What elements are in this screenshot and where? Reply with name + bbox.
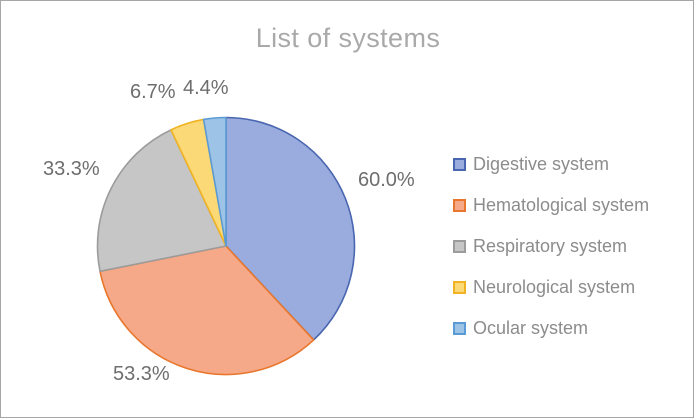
chart-container: List of systems 60.0%53.3%33.3%6.7%4.4% …	[0, 0, 694, 418]
legend-item-label: Respiratory system	[473, 236, 627, 257]
legend-color-swatch-icon	[453, 322, 466, 335]
legend-item-label: Hematological system	[473, 195, 649, 216]
legend-color-swatch-icon	[453, 199, 466, 212]
pie-data-label: 4.4%	[183, 77, 229, 100]
legend-item[interactable]: Ocular system	[453, 308, 691, 349]
legend-item[interactable]: Digestive system	[453, 144, 691, 185]
legend-item[interactable]: Respiratory system	[453, 226, 691, 267]
legend-item-label: Neurological system	[473, 277, 635, 298]
legend-color-swatch-icon	[453, 240, 466, 253]
pie-data-label: 33.3%	[43, 158, 100, 181]
legend-item-label: Ocular system	[473, 318, 588, 339]
pie-data-label: 60.0%	[358, 169, 415, 192]
legend-item[interactable]: Neurological system	[453, 267, 691, 308]
legend-item-label: Digestive system	[473, 154, 609, 175]
chart-legend: Digestive systemHematological systemResp…	[453, 144, 691, 349]
legend-color-swatch-icon	[453, 158, 466, 171]
legend-item[interactable]: Hematological system	[453, 185, 691, 226]
pie-data-label: 6.7%	[130, 81, 176, 104]
legend-color-swatch-icon	[453, 281, 466, 294]
pie-data-label: 53.3%	[113, 363, 170, 386]
